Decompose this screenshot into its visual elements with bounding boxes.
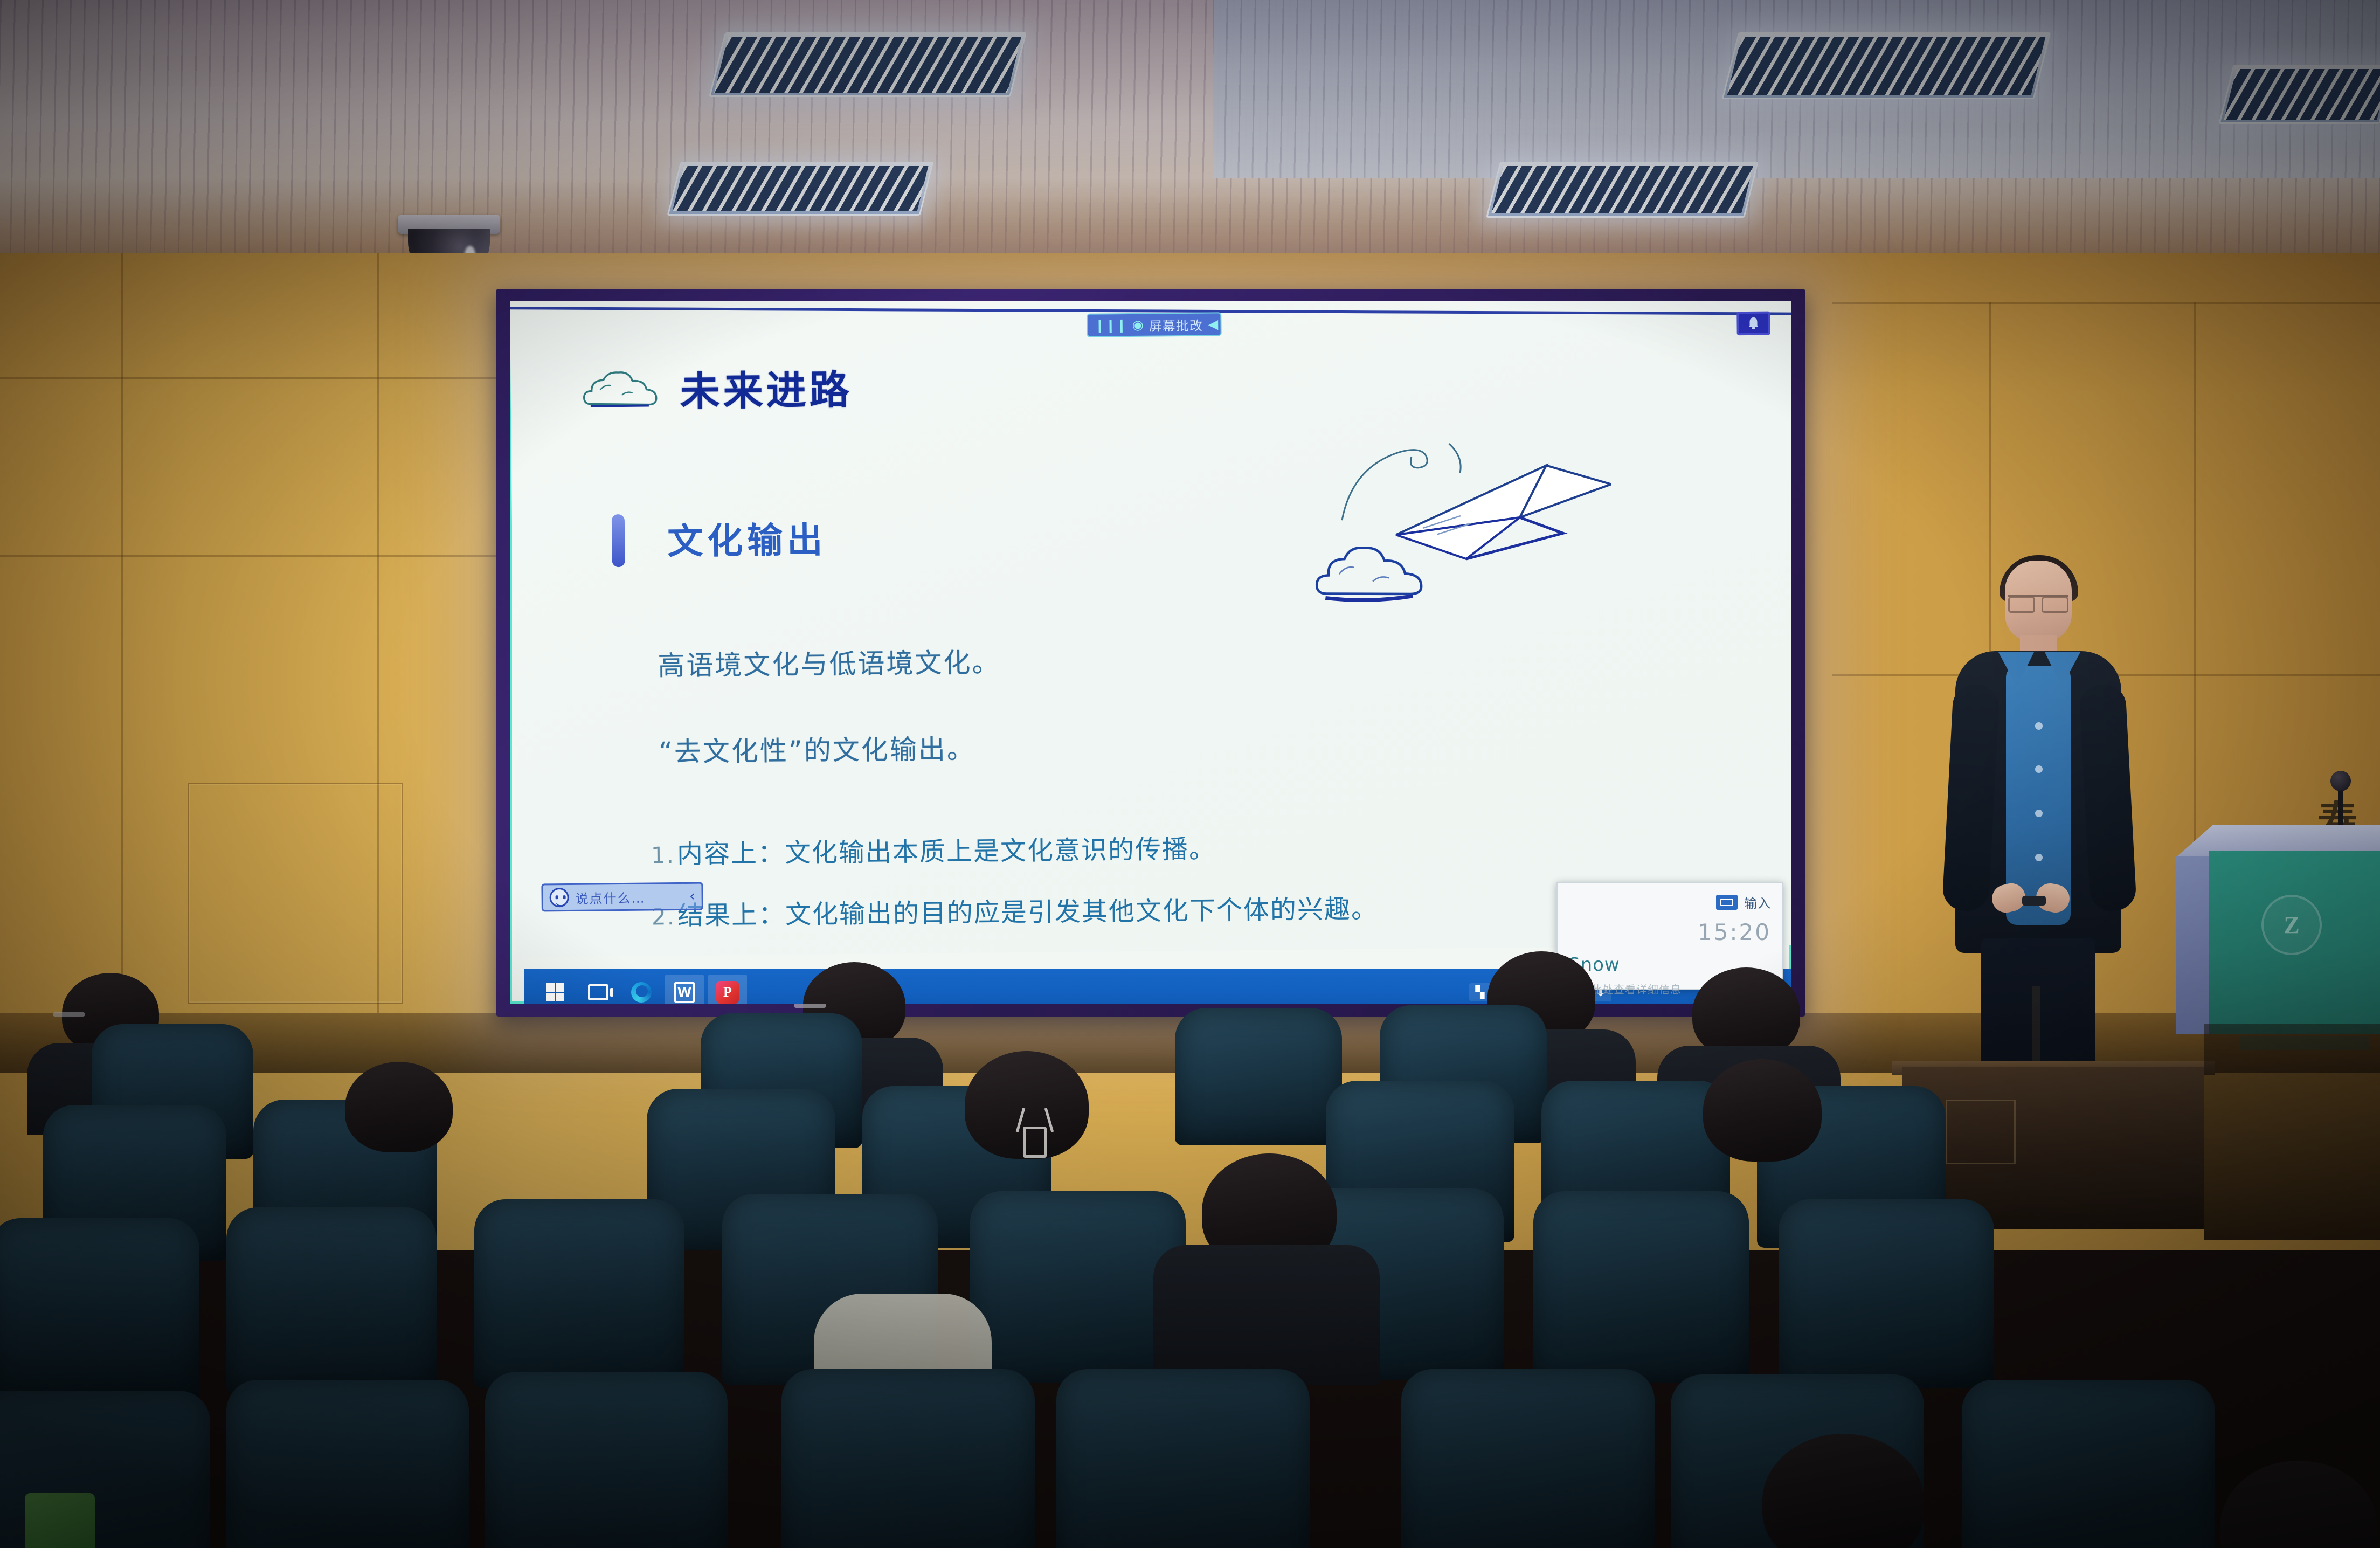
audience-head: [1692, 967, 1800, 1058]
audience-head: [2220, 1461, 2377, 1548]
item-text: 内容上：文化输出本质上是文化意识的传播。: [677, 827, 1216, 870]
accent-bar: [612, 514, 625, 567]
wall-seam: [0, 555, 496, 557]
glasses-icon: [2008, 595, 2068, 608]
wall-recessed-panel: [188, 783, 403, 1004]
shirt-button: [2035, 810, 2043, 817]
auditorium-seat: [1175, 1008, 1342, 1145]
auditorium-seat: [474, 1199, 684, 1388]
audience-seating: [0, 992, 2380, 1548]
wall-seam: [121, 253, 123, 1013]
bell-icon: [1746, 316, 1760, 331]
lecture-hall-photo: 未来进路 文化输出 高语境文化与低语境文化。 “去文化性”的文化输出。 1. 内…: [0, 0, 2380, 1548]
microphone-icon: [2338, 788, 2343, 830]
auditorium-seat: [226, 1207, 437, 1393]
shirt-button: [2035, 722, 2043, 730]
projection-screen[interactable]: 未来进路 文化输出 高语境文化与低语境文化。 “去文化性”的文化输出。 1. 内…: [510, 301, 1791, 1004]
slide-title: 未来进路: [680, 358, 853, 417]
auditorium-seat: [781, 1369, 1035, 1548]
wall-seam: [0, 377, 496, 379]
presentation-clicker: [2022, 896, 2046, 906]
shirt-button: [2035, 765, 2043, 773]
ceiling-light-fixture: [709, 32, 1027, 97]
audience-head: [345, 1062, 453, 1152]
ceiling-light-fixture: [1486, 162, 1759, 218]
item-index: 1.: [651, 842, 675, 868]
speaker-icon[interactable]: ◀: [1208, 317, 1219, 330]
comment-input[interactable]: 说点什么…: [575, 887, 683, 907]
glasses-icon: [53, 1012, 85, 1017]
podium-emblem: Z: [2261, 895, 2322, 955]
audience-shoulder: [1153, 1245, 1380, 1385]
slide-numbered-item: 2. 结果上：文化输出的目的应是引发其他文化下个体的兴趣。: [652, 888, 1379, 932]
hairclip-icon: [1023, 1127, 1047, 1158]
glasses-icon: [794, 1004, 826, 1008]
keyboard-icon: [1716, 895, 1738, 910]
auditorium-seat: [0, 1218, 199, 1401]
cloud-icon: [580, 365, 662, 412]
audience-head: [1703, 1059, 1822, 1162]
auditorium-seat: [1401, 1369, 1655, 1548]
screen-annotate-toolbar[interactable]: ❙❙❙ ◉ 屏幕批改 ◀: [1087, 312, 1221, 337]
auditorium-seat: [226, 1380, 469, 1548]
auditorium-seat: [485, 1372, 728, 1548]
wall-seam: [1832, 302, 2380, 304]
cloud-icon: [1310, 529, 1445, 611]
slide-title-row: 未来进路: [580, 358, 853, 418]
notification-badge[interactable]: [1736, 312, 1770, 336]
toast-kbd-label: 输入: [1744, 893, 1771, 911]
shirt-button: [2035, 854, 2043, 861]
auditorium-seat: [1779, 1199, 1994, 1388]
slide-subtitle: 文化输出: [667, 511, 827, 564]
ceiling-light-fixture: [1722, 32, 2051, 99]
item-text: 结果上：文化输出的目的应是引发其他文化下个体的兴趣。: [677, 888, 1379, 932]
comment-widget[interactable]: 说点什么… ‹: [541, 882, 703, 912]
chevron-left-icon[interactable]: ‹: [689, 888, 695, 904]
toast-time: 15:20: [1568, 919, 1771, 945]
auditorium-seat: [1056, 1369, 1310, 1548]
smiley-icon[interactable]: [549, 888, 569, 907]
slide-numbered-item: 1. 内容上：文化输出本质上是文化意识的传播。: [651, 827, 1216, 870]
record-icon[interactable]: ◉: [1132, 319, 1144, 331]
powerpoint-slide[interactable]: 未来进路 文化输出 高语境文化与低语境文化。 “去文化性”的文化输出。 1. 内…: [510, 301, 1791, 957]
slide-body-line: 高语境文化与低语境文化。: [658, 641, 1001, 683]
ceiling-light-fixture: [2218, 65, 2380, 124]
projection-screen-bezel: 未来进路 文化输出 高语境文化与低语境文化。 “去文化性”的文化输出。 1. 内…: [496, 289, 1805, 1017]
slide-body-line: “去文化性”的文化输出。: [659, 728, 975, 770]
audience-bag: [25, 1493, 95, 1548]
signal-icon[interactable]: ❙❙❙: [1094, 319, 1127, 332]
toolbar-label: 屏幕批改: [1149, 315, 1203, 334]
auditorium-seat: [1533, 1191, 1749, 1383]
wall-seam: [2194, 302, 2196, 841]
auditorium-seat: [1962, 1380, 2215, 1548]
ceiling-light-fixture: [667, 162, 934, 216]
toast-header: 输入: [1568, 893, 1771, 911]
